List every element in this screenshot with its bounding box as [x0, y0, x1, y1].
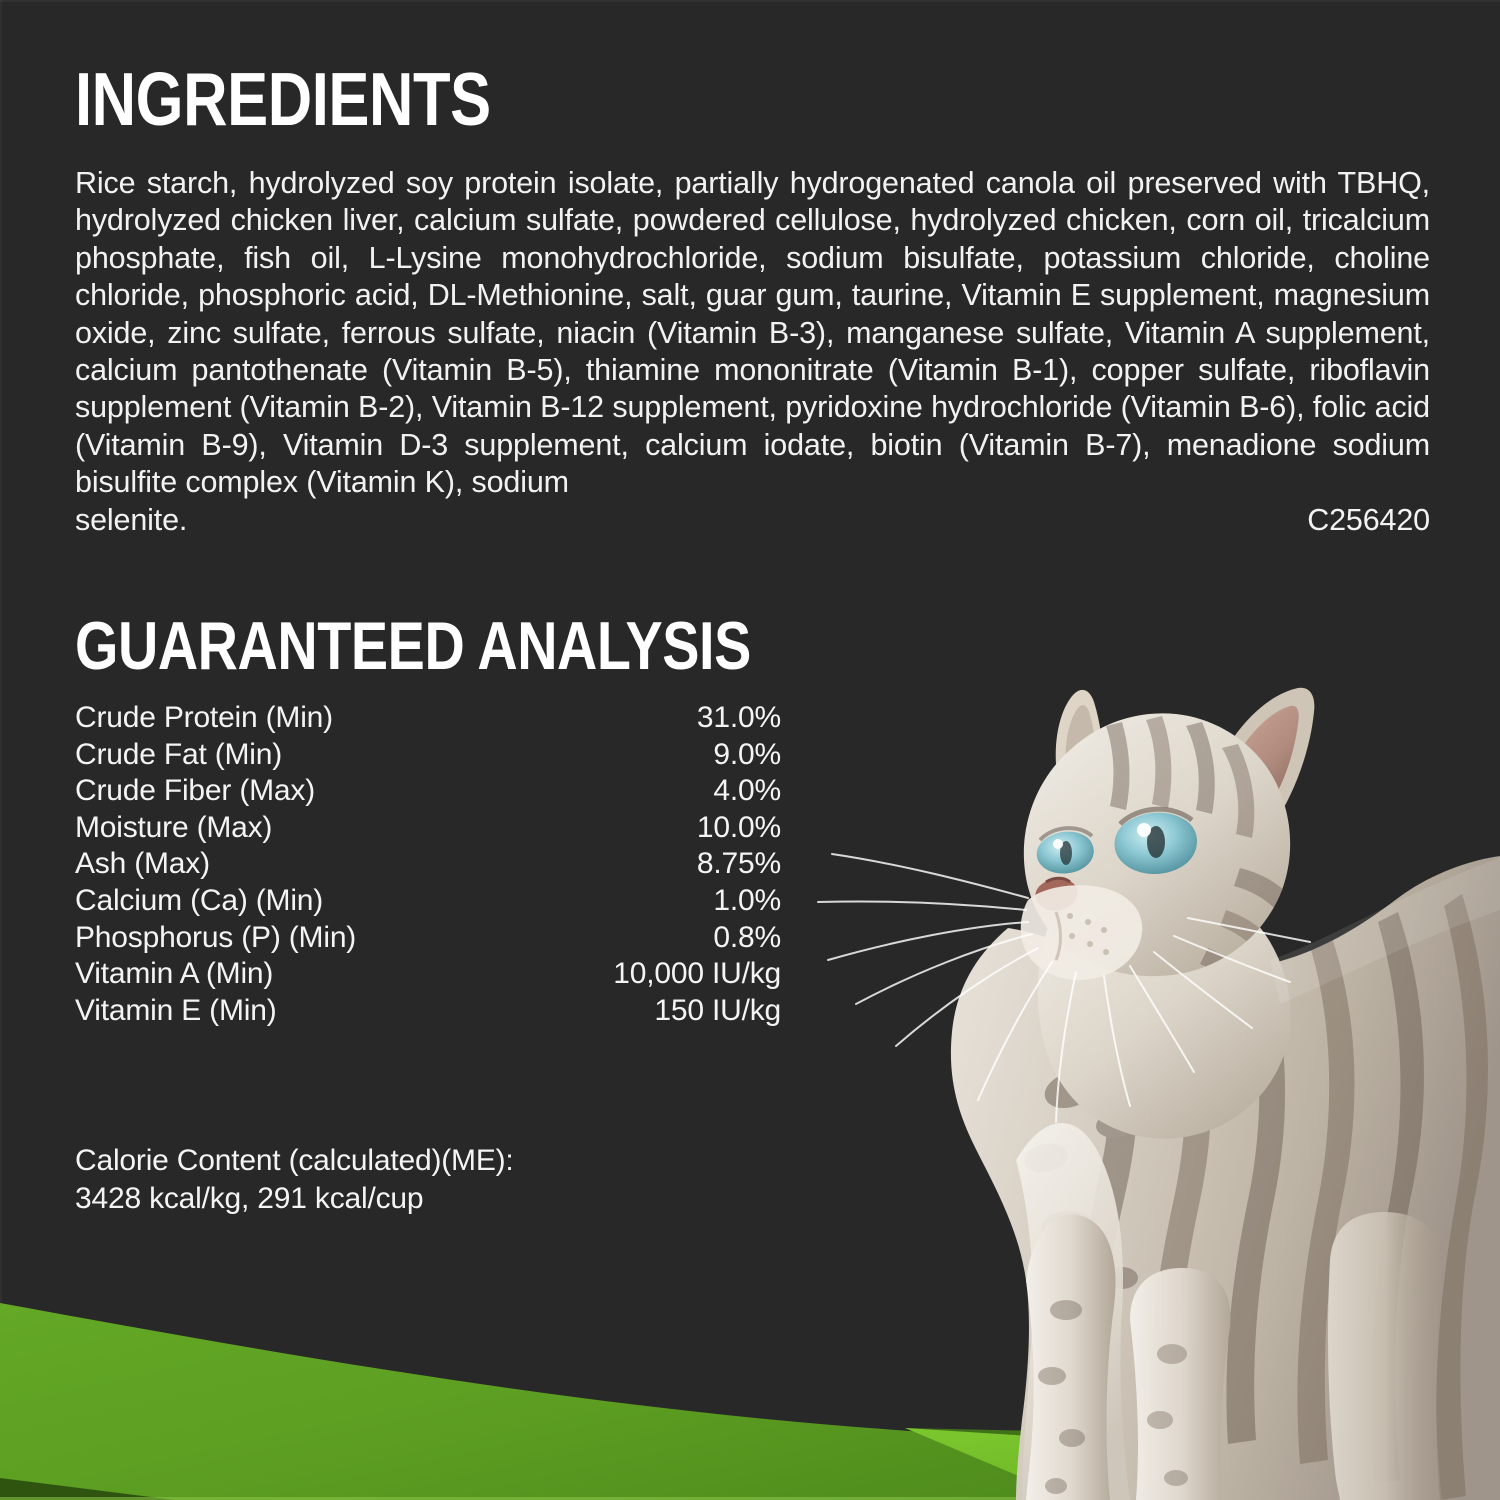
cat-head-stripes: [1106, 716, 1296, 1002]
cat-ear-left: [1056, 690, 1104, 831]
cat-neck: [1038, 875, 1291, 1139]
analyte-name: Vitamin A (Min): [75, 956, 273, 993]
analyte-value: 10.0%: [697, 810, 781, 847]
ingredients-text: Rice starch, hydrolyzed soy protein isol…: [75, 166, 1430, 499]
analyte-value: 0.8%: [713, 920, 781, 957]
cat-ear-left-inner: [1066, 705, 1097, 816]
guaranteed-analysis-table: Crude Protein (Min) 31.0% Crude Fat (Min…: [75, 700, 781, 1029]
cat-nose-bridge: [1046, 878, 1070, 882]
table-row: Phosphorus (P) (Min) 0.8%: [75, 920, 781, 957]
analyte-name: Ash (Max): [75, 846, 210, 883]
guaranteed-analysis-heading: GUARANTEED ANALYSIS: [75, 612, 751, 680]
ingredients-body: Rice starch, hydrolyzed soy protein isol…: [75, 165, 1430, 539]
cat-head: [1024, 713, 1290, 976]
analyte-name: Vitamin E (Min): [75, 993, 277, 1030]
cat-whiskers: [818, 854, 1310, 1122]
cat-eyes: [1037, 809, 1197, 874]
green-wave-graphic: [0, 1270, 1500, 1500]
analyte-name: Crude Fat (Min): [75, 737, 282, 774]
calorie-content-value: 3428 kcal/kg, 291 kcal/cup: [75, 1180, 514, 1218]
table-row: Moisture (Max) 10.0%: [75, 810, 781, 847]
ingredients-heading: INGREDIENTS: [75, 62, 491, 137]
table-row: Calcium (Ca) (Min) 1.0%: [75, 883, 781, 920]
analyte-name: Crude Fiber (Max): [75, 773, 315, 810]
pet-food-label-panel: INGREDIENTS Rice starch, hydrolyzed soy …: [0, 0, 1500, 1500]
table-row: Crude Fat (Min) 9.0%: [75, 737, 781, 774]
analyte-value: 9.0%: [713, 737, 781, 774]
calorie-content-block: Calorie Content (calculated)(ME): 3428 k…: [75, 1142, 514, 1218]
cat-whisker-pad-dots: [1067, 913, 1109, 955]
analyte-value: 8.75%: [697, 846, 781, 883]
cat-ear-right-inner: [1229, 706, 1299, 826]
analyte-value: 31.0%: [697, 700, 781, 737]
cat-mouth-line: [1056, 912, 1061, 960]
analyte-name: Crude Protein (Min): [75, 700, 333, 737]
analyte-value: 150 IU/kg: [654, 993, 781, 1030]
cat-nose: [1035, 878, 1077, 911]
panel-top-edge-highlight: [0, 0, 1500, 2]
analyte-value: 10,000 IU/kg: [613, 956, 781, 993]
analyte-value: 1.0%: [713, 883, 781, 920]
product-code: C256420: [1307, 502, 1430, 539]
cat-muzzle: [1021, 885, 1142, 980]
cat-haunch: [1410, 946, 1500, 1130]
analyte-name: Phosphorus (P) (Min): [75, 920, 356, 957]
cat-back-highlight: [1270, 858, 1500, 1004]
cat-ear-right: [1217, 688, 1315, 845]
table-row: Vitamin A (Min) 10,000 IU/kg: [75, 956, 781, 993]
ingredients-last-line: selenite. C256420: [75, 502, 1430, 539]
table-row: Crude Protein (Min) 31.0%: [75, 700, 781, 737]
panel-left-edge-highlight: [0, 0, 2, 1320]
analyte-name: Moisture (Max): [75, 810, 272, 847]
calorie-content-label: Calorie Content (calculated)(ME):: [75, 1142, 514, 1180]
table-row: Crude Fiber (Max) 4.0%: [75, 773, 781, 810]
analyte-name: Calcium (Ca) (Min): [75, 883, 323, 920]
table-row: Vitamin E (Min) 150 IU/kg: [75, 993, 781, 1030]
analyte-value: 4.0%: [713, 773, 781, 810]
ingredients-text-tail: selenite.: [75, 502, 187, 539]
table-row: Ash (Max) 8.75%: [75, 846, 781, 883]
